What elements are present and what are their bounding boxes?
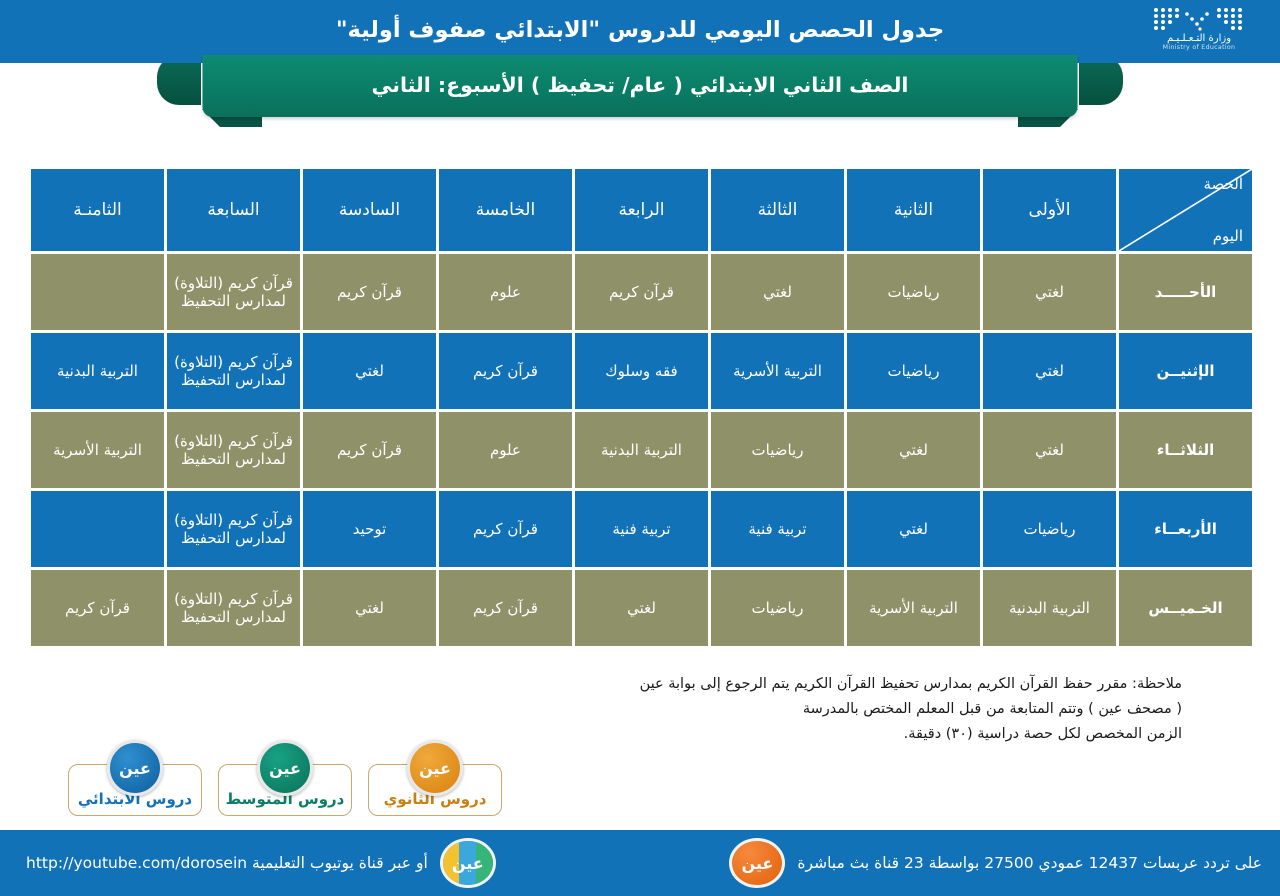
schedule-table-body: الحصةاليومالأولىالثانيةالثالثةالرابعةالخ… bbox=[31, 169, 1252, 646]
subject-cell-r3-p7: قرآن كريم (التلاوة) لمدارس التحفيظ bbox=[167, 412, 300, 488]
class-ribbon: الصف الثاني الابتدائي ( عام/ تحفيظ ) الأ… bbox=[0, 55, 1280, 125]
subject-cell-r3-p8: التربية الأسرية bbox=[31, 412, 164, 488]
footnote-line-3: الزمن المخصص لكل حصة دراسية (٣٠) دقيقة. bbox=[562, 722, 1182, 747]
corner-day-label: اليوم bbox=[1213, 227, 1243, 245]
subject-cell-r5-p1: التربية البدنية bbox=[983, 570, 1116, 646]
period-header-1: الأولى bbox=[983, 169, 1116, 251]
schedule-row: الإثنيــنلغتيرياضياتالتربية الأسريةفقه و… bbox=[31, 333, 1252, 409]
subject-cell-r5-p4: لغتي bbox=[575, 570, 708, 646]
schedule-row: الأحـــــدلغتيرياضياتلغتيقرآن كريمعلومقر… bbox=[31, 254, 1252, 330]
subject-cell-r3-p1: لغتي bbox=[983, 412, 1116, 488]
subject-cell-r2-p8: التربية البدنية bbox=[31, 333, 164, 409]
moe-logo-arabic-text: وزارة التـعـلـيـم bbox=[1167, 33, 1231, 44]
day-cell-4: الأربعــاء bbox=[1119, 491, 1252, 567]
subject-cell-r1-p7: قرآن كريم (التلاوة) لمدارس التحفيظ bbox=[167, 254, 300, 330]
subject-cell-r1-p2: رياضيات bbox=[847, 254, 980, 330]
subject-cell-r1-p5: علوم bbox=[439, 254, 572, 330]
subject-cell-r3-p5: علوم bbox=[439, 412, 572, 488]
period-header-5: الخامسة bbox=[439, 169, 572, 251]
period-header-2: الثانية bbox=[847, 169, 980, 251]
subject-cell-r2-p5: قرآن كريم bbox=[439, 333, 572, 409]
ein-striped-logo-text: عين bbox=[452, 854, 484, 873]
ein-circle-logo-icon: عين bbox=[257, 740, 313, 796]
footnote-line-2: ( مصحف عين ) وتتم المتابعة من قبل المعلم… bbox=[562, 697, 1182, 722]
subject-cell-r3-p4: التربية البدنية bbox=[575, 412, 708, 488]
subject-cell-r5-p6: لغتي bbox=[303, 570, 436, 646]
period-header-7: السابعة bbox=[167, 169, 300, 251]
subject-cell-r4-p1: رياضيات bbox=[983, 491, 1116, 567]
subject-cell-r1-p4: قرآن كريم bbox=[575, 254, 708, 330]
subject-cell-r2-p4: فقه وسلوك bbox=[575, 333, 708, 409]
subject-cell-r4-p3: تربية فنية bbox=[711, 491, 844, 567]
ministry-of-education-logo: وزارة التـعـلـيـم Ministry of Education bbox=[1140, 6, 1258, 60]
subject-cell-r4-p4: تربية فنية bbox=[575, 491, 708, 567]
ein-circle-logo-icon: عين bbox=[407, 740, 463, 796]
subject-cell-r5-p8: قرآن كريم bbox=[31, 570, 164, 646]
subject-cell-r5-p3: رياضيات bbox=[711, 570, 844, 646]
table-corner-cell: الحصةاليوم bbox=[1119, 169, 1252, 251]
period-header-6: السادسة bbox=[303, 169, 436, 251]
period-header-4: الرابعة bbox=[575, 169, 708, 251]
period-header-3: الثالثة bbox=[711, 169, 844, 251]
footer-youtube-group[interactable]: عين أو عبر قناة يوتيوب التعليمية http://… bbox=[26, 830, 496, 896]
moe-logo-english-text: Ministry of Education bbox=[1163, 44, 1236, 52]
schedule-row: الخـميــسالتربية البدنيةالتربية الأسريةر… bbox=[31, 570, 1252, 646]
subject-cell-r3-p3: رياضيات bbox=[711, 412, 844, 488]
ein-orange-logo-icon: عين bbox=[729, 838, 785, 888]
subject-cell-r3-p6: قرآن كريم bbox=[303, 412, 436, 488]
subject-cell-r4-p2: لغتي bbox=[847, 491, 980, 567]
moe-dot-matrix-icon bbox=[1151, 6, 1247, 32]
day-cell-5: الخـميــس bbox=[1119, 570, 1252, 646]
subject-cell-r4-p7: قرآن كريم (التلاوة) لمدارس التحفيظ bbox=[167, 491, 300, 567]
ribbon-banner: الصف الثاني الابتدائي ( عام/ تحفيظ ) الأ… bbox=[203, 55, 1078, 117]
subject-cell-r2-p7: قرآن كريم (التلاوة) لمدارس التحفيظ bbox=[167, 333, 300, 409]
footer-broadcast-group: على تردد عربسات 12437 عمودي 27500 بواسطة… bbox=[729, 830, 1262, 896]
footer-youtube-text[interactable]: أو عبر قناة يوتيوب التعليمية http://yout… bbox=[26, 854, 428, 872]
footer-bar: على تردد عربسات 12437 عمودي 27500 بواسطة… bbox=[0, 830, 1280, 896]
period-header-8: الثامنـة bbox=[31, 169, 164, 251]
ribbon-title: الصف الثاني الابتدائي ( عام/ تحفيظ ) الأ… bbox=[372, 73, 909, 100]
day-cell-2: الإثنيــن bbox=[1119, 333, 1252, 409]
ein-circle-logo-icon: عين bbox=[107, 740, 163, 796]
footnote: ملاحظة: مقرر حفظ القرآن الكريم بمدارس تح… bbox=[562, 672, 1182, 747]
subject-cell-r2-p1: لغتي bbox=[983, 333, 1116, 409]
footer-broadcast-text: على تردد عربسات 12437 عمودي 27500 بواسطة… bbox=[797, 854, 1262, 872]
corner-period-label: الحصة bbox=[1204, 175, 1243, 193]
subject-cell-r2-p2: رياضيات bbox=[847, 333, 980, 409]
schedule-row: الثلاثــاءلغتيلغتيرياضياتالتربية البدنية… bbox=[31, 412, 1252, 488]
subject-cell-r1-p8 bbox=[31, 254, 164, 330]
subject-cell-r1-p1: لغتي bbox=[983, 254, 1116, 330]
ein-striped-logo-icon: عين bbox=[440, 838, 496, 888]
subject-cell-r1-p3: لغتي bbox=[711, 254, 844, 330]
footnote-line-1: ملاحظة: مقرر حفظ القرآن الكريم بمدارس تح… bbox=[562, 672, 1182, 697]
subject-cell-r5-p2: التربية الأسرية bbox=[847, 570, 980, 646]
lesson-level-badges: عيندروس الثانويعيندروس المتوسطعيندروس ال… bbox=[68, 742, 502, 816]
subject-cell-r2-p6: لغتي bbox=[303, 333, 436, 409]
subject-cell-r1-p6: قرآن كريم bbox=[303, 254, 436, 330]
subject-cell-r5-p5: قرآن كريم bbox=[439, 570, 572, 646]
badge-blue[interactable]: عيندروس الابتدائي bbox=[68, 764, 202, 816]
ribbon-tail-right bbox=[1079, 55, 1123, 105]
day-cell-3: الثلاثــاء bbox=[1119, 412, 1252, 488]
schedule-table: الحصةاليومالأولىالثانيةالثالثةالرابعةالخ… bbox=[28, 166, 1255, 649]
badge-green[interactable]: عيندروس المتوسط bbox=[218, 764, 352, 816]
subject-cell-r4-p6: توحيد bbox=[303, 491, 436, 567]
header-bar: جدول الحصص اليومي للدروس "الابتدائي صفوف… bbox=[0, 0, 1280, 63]
schedule-row: الأربعــاءرياضياتلغتيتربية فنيةتربية فني… bbox=[31, 491, 1252, 567]
subject-cell-r4-p5: قرآن كريم bbox=[439, 491, 572, 567]
subject-cell-r2-p3: التربية الأسرية bbox=[711, 333, 844, 409]
day-cell-1: الأحـــــد bbox=[1119, 254, 1252, 330]
ribbon-tail-left bbox=[157, 55, 201, 105]
page-title: جدول الحصص اليومي للدروس "الابتدائي صفوف… bbox=[0, 0, 1280, 63]
subject-cell-r4-p8 bbox=[31, 491, 164, 567]
schedule-header-row: الحصةاليومالأولىالثانيةالثالثةالرابعةالخ… bbox=[31, 169, 1252, 251]
subject-cell-r3-p2: لغتي bbox=[847, 412, 980, 488]
subject-cell-r5-p7: قرآن كريم (التلاوة) لمدارس التحفيظ bbox=[167, 570, 300, 646]
badge-orange[interactable]: عيندروس الثانوي bbox=[368, 764, 502, 816]
